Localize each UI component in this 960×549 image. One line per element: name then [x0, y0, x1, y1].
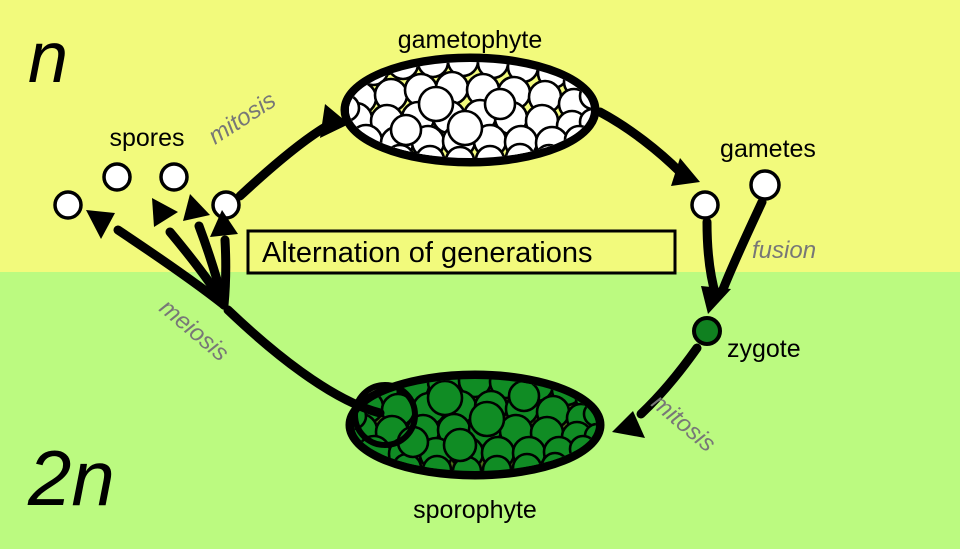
zygote-label: zygote: [727, 335, 801, 363]
gamete-cell: [692, 192, 718, 218]
diagram-canvas: n 2n: [0, 0, 960, 549]
spore-cell: [213, 192, 239, 218]
zygote-cell: [694, 318, 720, 344]
title-box: Alternation of generations: [248, 231, 675, 273]
diploid-ploidy-label: 2n: [27, 434, 115, 522]
gamete-cell: [751, 171, 779, 199]
spore-cell: [55, 192, 81, 218]
spore-cell: [161, 164, 187, 190]
alternation-of-generations-diagram: n 2n: [0, 0, 960, 549]
gametes-label: gametes: [720, 135, 816, 163]
sporophyte-label: sporophyte: [413, 496, 537, 524]
haploid-ploidy-label: n: [28, 18, 68, 98]
title-text: Alternation of generations: [262, 237, 593, 269]
gametophyte-label: gametophyte: [398, 26, 543, 54]
spores-label: spores: [109, 124, 184, 152]
fusion-label: fusion: [752, 237, 816, 264]
spore-cell: [104, 164, 130, 190]
